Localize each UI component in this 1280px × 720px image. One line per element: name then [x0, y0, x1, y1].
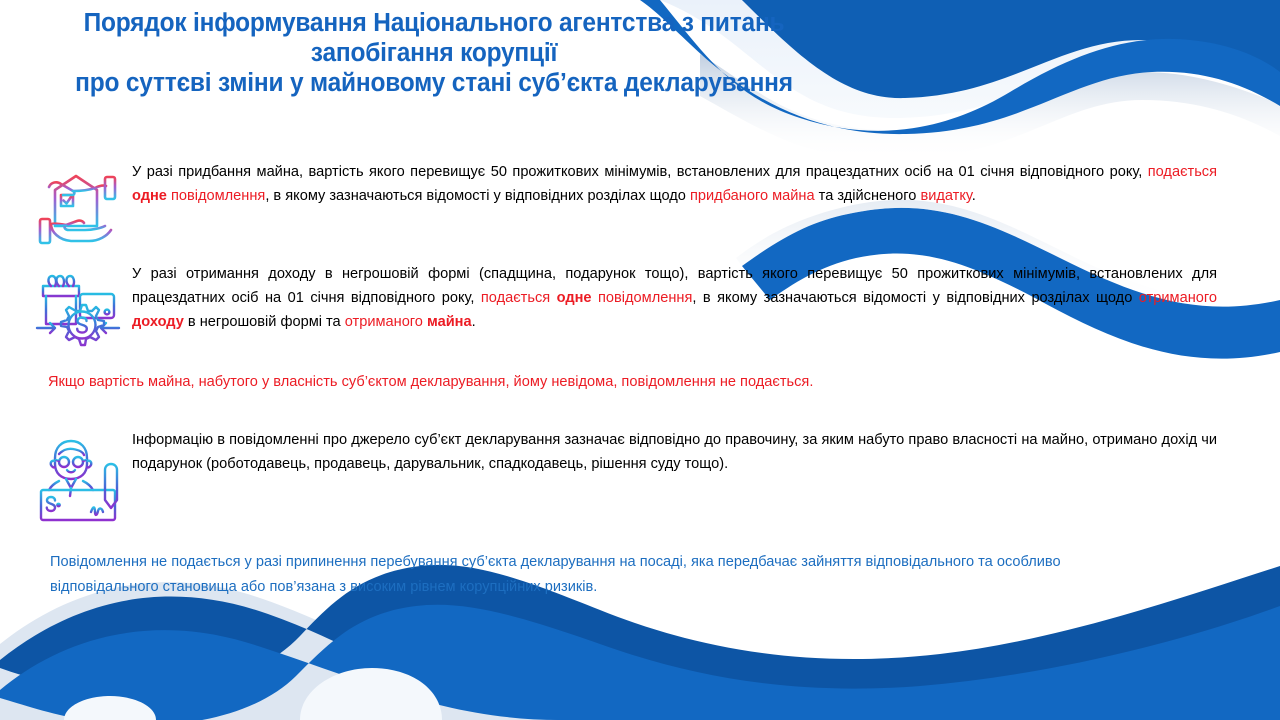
icon-cell [22, 262, 132, 358]
blue-footer-note: Повідомлення не подається у разі припине… [50, 550, 1140, 600]
paragraph-non-monetary-income: У разі отримання доходу в негрошовій фор… [132, 262, 1217, 334]
page-title-line-1: Порядок інформування Національного агент… [17, 8, 850, 38]
person-cheque-pen-icon [29, 428, 125, 524]
content-block-non-monetary-income: У разі отримання доходу в негрошовій фор… [22, 262, 1254, 358]
content-block-source-information: Інформацію в повідомленні про джерело су… [22, 428, 1254, 524]
slide-canvas: Порядок інформування Національного агент… [0, 0, 1280, 720]
house-document-hands-icon [29, 160, 125, 252]
paragraph-source-information: Інформацію в повідомленні про джерело су… [132, 428, 1217, 476]
background-decoration [0, 0, 1280, 720]
page-title-line-2: запобігання корупції [17, 38, 850, 68]
gift-card-gear-dollar-icon [29, 262, 125, 358]
paragraph-acquired-property: У разі придбання майна, вартість якого п… [132, 160, 1217, 208]
icon-cell [22, 160, 132, 252]
content-block-acquired-property: У разі придбання майна, вартість якого п… [22, 160, 1254, 252]
page-title-line-3: про суттєві зміни у майновому стані суб’… [17, 68, 850, 98]
page-title: Порядок інформування Національного агент… [0, 8, 868, 98]
red-callout-note: Якщо вартість майна, набутого у власніст… [48, 371, 1108, 393]
icon-cell [22, 428, 132, 524]
